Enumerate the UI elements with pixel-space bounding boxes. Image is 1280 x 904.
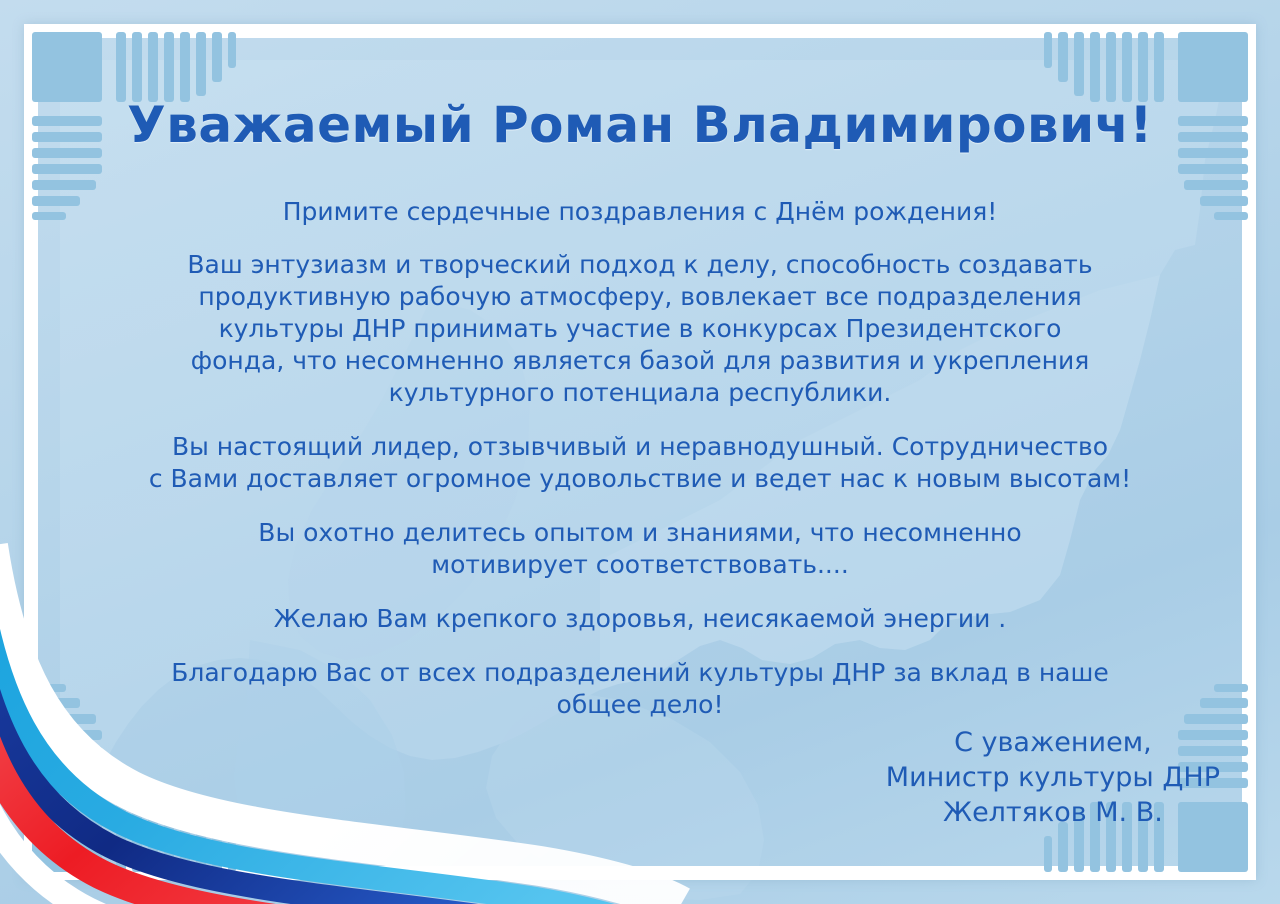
- signature-closing: С уважением,: [886, 725, 1220, 760]
- paragraph-5: Благодарю Вас от всех подразделений куль…: [80, 657, 1200, 721]
- paragraph-line: культурного потенциала республики.: [80, 377, 1200, 409]
- page-title: Уважаемый Роман Владимирович!: [80, 96, 1200, 154]
- paragraph-line: фонда, что несомненно является базой для…: [80, 345, 1200, 377]
- signature-title: Министр культуры ДНР: [886, 760, 1220, 795]
- paragraph-4: Желаю Вам крепкого здоровья, неисякаемой…: [80, 603, 1200, 635]
- paragraph-2: Вы настоящий лидер, отзывчивый и неравно…: [80, 431, 1200, 495]
- greeting-card: Уважаемый Роман Владимирович! Примите се…: [0, 0, 1280, 904]
- paragraph-1: Ваш энтузиазм и творческий подход к делу…: [80, 249, 1200, 409]
- lead-paragraph: Примите сердечные поздравления с Днём ро…: [80, 196, 1200, 227]
- paragraph-line: продуктивную рабочую атмосферу, вовлекае…: [80, 281, 1200, 313]
- paragraph-line: культуры ДНР принимать участие в конкурс…: [80, 313, 1200, 345]
- paragraph-line: мотивирует соответствовать....: [80, 549, 1200, 581]
- signature-block: С уважением, Министр культуры ДНР Желтяк…: [886, 725, 1220, 830]
- paragraph-line: общее дело!: [80, 689, 1200, 721]
- paragraph-line: Желаю Вам крепкого здоровья, неисякаемой…: [80, 603, 1200, 635]
- paragraph-line: Ваш энтузиазм и творческий подход к делу…: [80, 249, 1200, 281]
- paragraph-line: Благодарю Вас от всех подразделений куль…: [80, 657, 1200, 689]
- paragraph-line: с Вами доставляет огромное удовольствие …: [80, 463, 1200, 495]
- paragraph-line: Вы охотно делитесь опытом и знаниями, чт…: [80, 517, 1200, 549]
- paragraph-line: Вы настоящий лидер, отзывчивый и неравно…: [80, 431, 1200, 463]
- signature-name: Желтяков М. В.: [886, 795, 1220, 830]
- paragraph-3: Вы охотно делитесь опытом и знаниями, чт…: [80, 517, 1200, 581]
